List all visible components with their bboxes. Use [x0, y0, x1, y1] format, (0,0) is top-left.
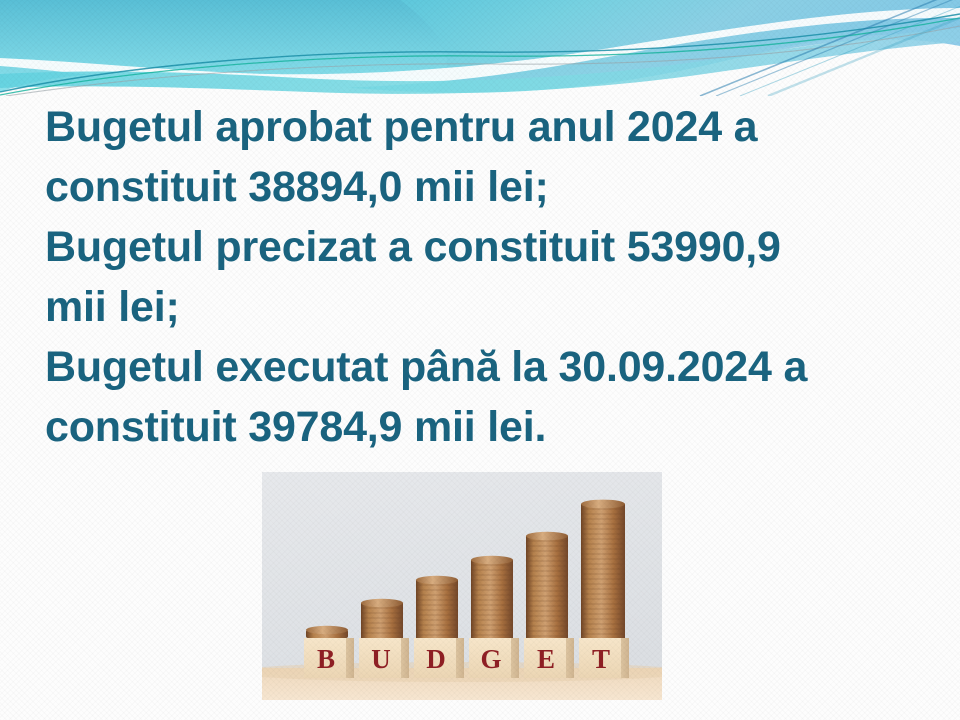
- coin-stack-1: [306, 626, 348, 638]
- budget-column-D: D: [414, 576, 464, 678]
- wood-block-D: D: [414, 638, 464, 678]
- coin-stack-6: [581, 500, 625, 638]
- wood-block-E: E: [524, 638, 574, 678]
- slide-body-text: Bugetul aprobat pentru anul 2024 a const…: [45, 97, 935, 457]
- budget-column-G: G: [469, 556, 519, 678]
- block-letter-G: G: [480, 644, 501, 674]
- slide-canvas: Bugetul aprobat pentru anul 2024 a const…: [0, 0, 960, 720]
- text-line-6: constituit 39784,9 mii lei.: [45, 397, 935, 457]
- coin-stack-2: [361, 599, 403, 638]
- wood-block-G: G: [469, 638, 519, 678]
- text-line-5: Bugetul executat până la 30.09.2024 a: [45, 337, 935, 397]
- block-letter-T: T: [592, 644, 610, 674]
- budget-column-T: T: [579, 500, 629, 678]
- wood-block-U: U: [359, 638, 409, 678]
- block-letter-U: U: [371, 644, 391, 674]
- wood-block-T: T: [579, 638, 629, 678]
- budget-coins-photo: B U: [262, 472, 662, 700]
- budget-column-B: B: [304, 626, 354, 678]
- coin-stack-5: [526, 532, 568, 638]
- text-line-2: constituit 38894,0 mii lei;: [45, 157, 935, 217]
- wave-banner-graphic: [0, 0, 960, 96]
- budget-column-E: E: [524, 532, 574, 678]
- block-letter-B: B: [317, 644, 335, 674]
- block-letter-D: D: [426, 644, 446, 674]
- coin-stack-3: [416, 576, 458, 638]
- text-line-3: Bugetul precizat a constituit 53990,9: [45, 217, 935, 277]
- text-line-4: mii lei;: [45, 277, 935, 337]
- wood-block-B: B: [304, 638, 354, 678]
- text-line-1: Bugetul aprobat pentru anul 2024 a: [45, 97, 935, 157]
- budget-photo-graphic: B U: [262, 472, 662, 700]
- decorative-wave-banner: [0, 0, 960, 96]
- coin-stack-4: [471, 556, 513, 638]
- block-letter-E: E: [537, 644, 555, 674]
- budget-column-U: U: [359, 599, 409, 678]
